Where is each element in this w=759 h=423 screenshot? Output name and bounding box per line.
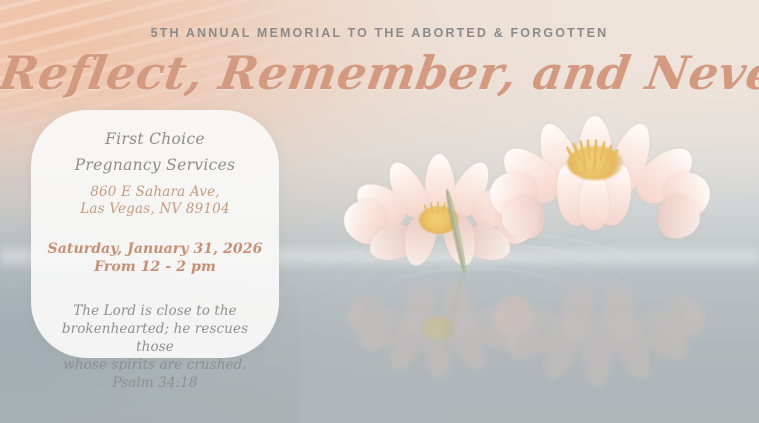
event-info-card: First Choice Pregnancy Services 860 E Sa… [31,110,279,358]
water-surface-veil [300,262,759,423]
address-line-2: Las Vegas, NV 89104 [41,201,269,218]
event-date: Saturday, January 31, 2026 [41,240,269,258]
event-datetime: Saturday, January 31, 2026 From 12 - 2 p… [41,240,269,276]
memorial-flyer: 5TH ANNUAL MEMORIAL TO THE ABORTED & FOR… [0,0,759,423]
organization-line-2: Pregnancy Services [41,152,269,178]
verse-line-1: The Lord is close to the [41,302,269,320]
water-lily-upright [495,120,715,250]
event-address: 860 E Sahara Ave, Las Vegas, NV 89104 [41,184,269,218]
page-kicker: 5TH ANNUAL MEMORIAL TO THE ABORTED & FOR… [0,26,759,40]
address-line-1: 860 E Sahara Ave, [41,184,269,201]
organization-name: First Choice Pregnancy Services [41,126,269,178]
verse-reference: Psalm 34:18 [41,374,269,392]
organization-line-1: First Choice [41,126,269,152]
scripture-quote: The Lord is close to the brokenhearted; … [41,302,269,392]
verse-line-3: whose spirits are crushed. [41,356,269,374]
event-time: From 12 - 2 pm [41,258,269,276]
verse-line-2: brokenhearted; he rescues those [41,320,269,356]
page-title: Reflect, Remember, and Never Forget [0,46,759,100]
